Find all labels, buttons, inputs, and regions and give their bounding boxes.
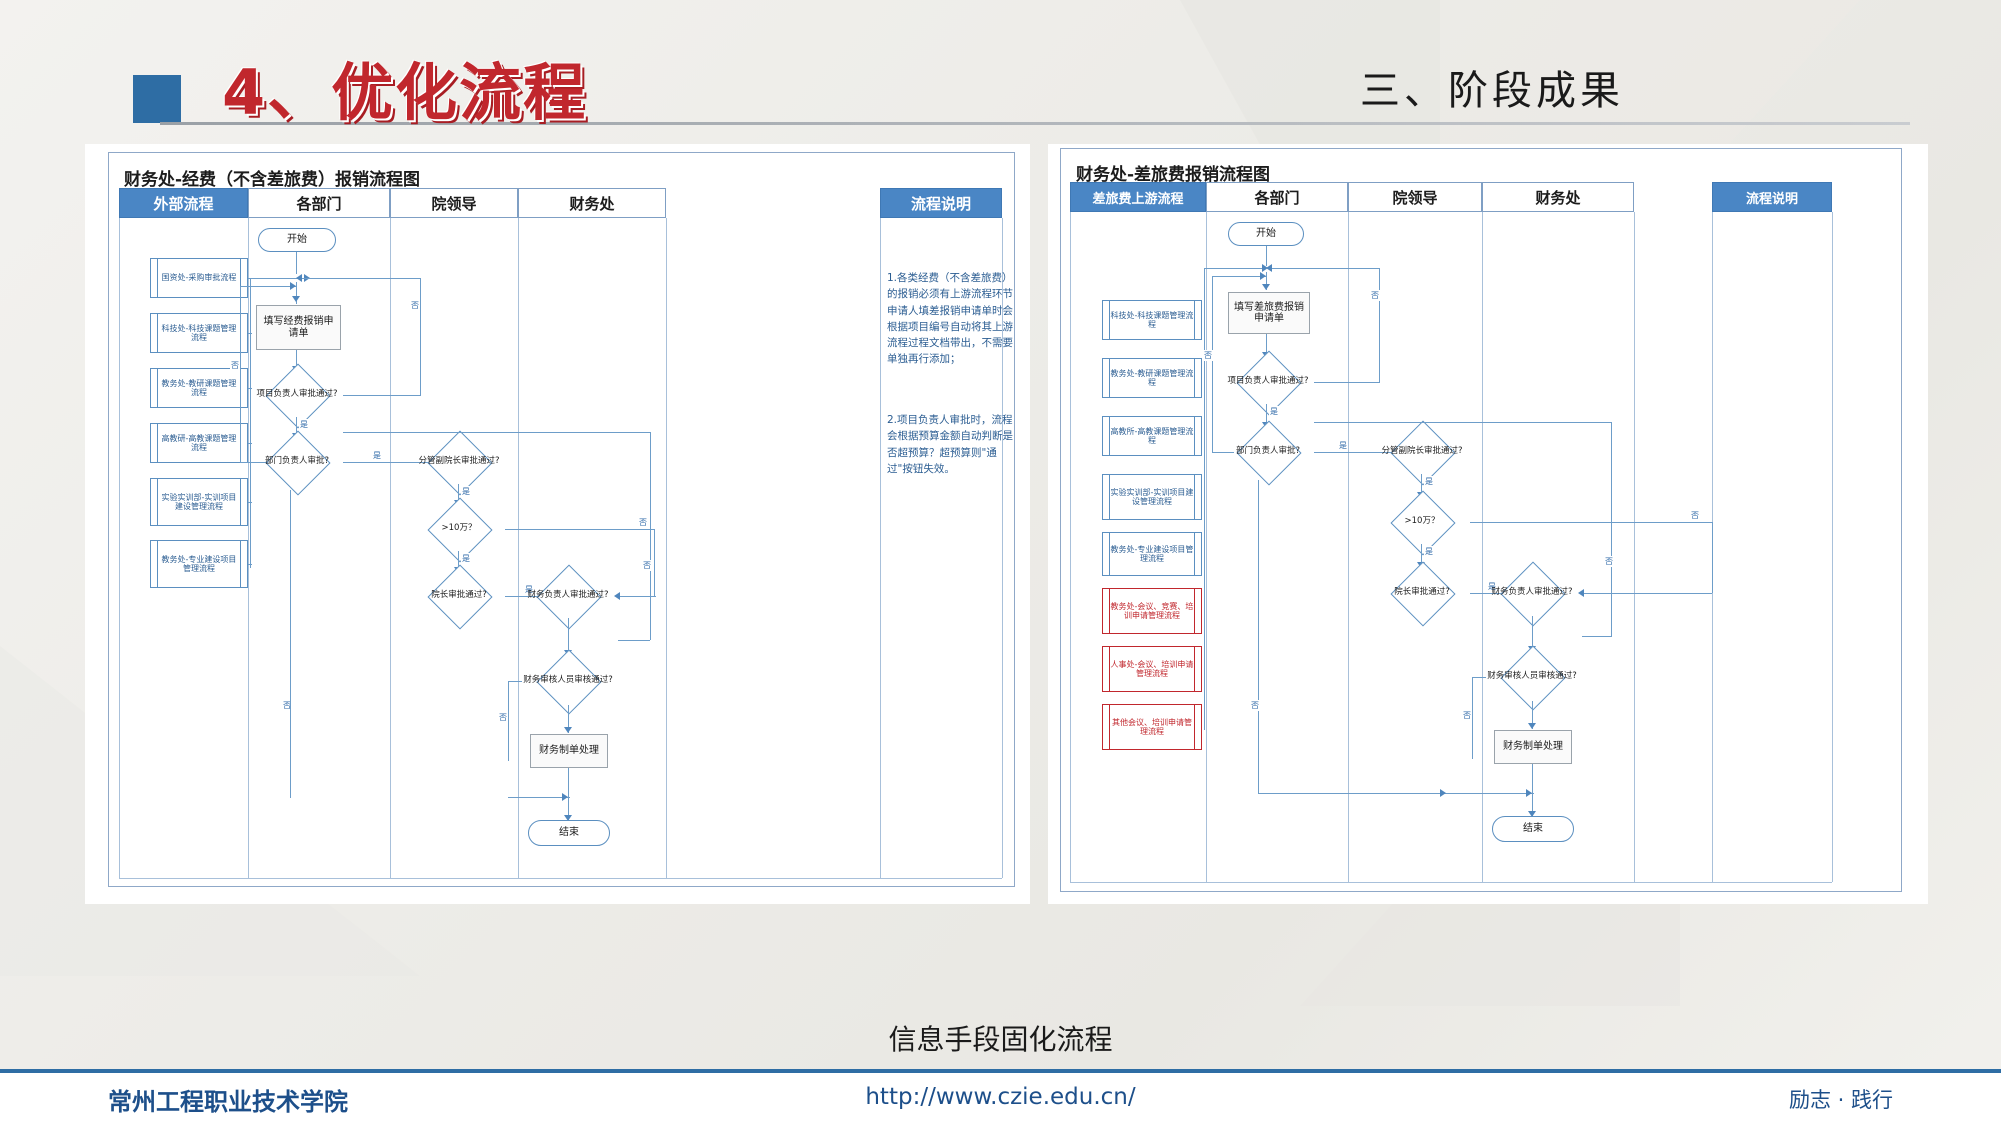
process-note-1: 1.各类经费（不含差旅费）的报销必须有上游流程环节 申请人填差报销申请单时会根据…	[887, 270, 1017, 368]
external-process-box[interactable]: 高教研-高教课题管理流程	[150, 423, 248, 463]
branch-label-no: 否	[1462, 710, 1472, 721]
connector	[1314, 422, 1611, 423]
external-process-box[interactable]: 高教所-高教课题管理流程	[1102, 416, 1202, 456]
node-fill-expense-form[interactable]: 填写经费报销申请单	[256, 305, 341, 350]
lane-bottom-border	[1070, 882, 1832, 883]
arrow-right	[1440, 789, 1446, 797]
lane-divider	[1206, 212, 1207, 882]
connector	[1379, 268, 1380, 382]
arrow-right	[1260, 272, 1266, 280]
lane-header-process-notes: 流程说明	[1712, 182, 1832, 212]
branch-label-no: 否	[410, 300, 420, 311]
lane-header-finance: 财务处	[1482, 182, 1634, 212]
branch-label-yes: 是	[461, 486, 471, 497]
external-process-box[interactable]: 教务处-会议、竞赛、培训申请管理流程	[1102, 588, 1202, 634]
connector	[1212, 276, 1213, 452]
connector	[343, 395, 421, 396]
decision-label: 财务负责人审批通过?	[518, 574, 618, 618]
header-accent-square	[133, 75, 181, 123]
arrow-left	[296, 274, 302, 282]
decision-finance-owner-approval[interactable]: 财务负责人审批通过?	[518, 574, 618, 618]
external-stub	[248, 564, 252, 565]
arrow-down	[1262, 284, 1270, 290]
lane-divider	[1070, 212, 1071, 882]
decision-finance-owner-approval[interactable]: 财务负责人审批通过?	[1482, 570, 1582, 616]
lane-divider	[880, 218, 881, 878]
branch-label-no: 否	[1604, 556, 1614, 567]
connector	[1212, 276, 1266, 277]
branch-label-no: 否	[230, 360, 240, 371]
branch-label-no: 否	[498, 712, 508, 723]
connector	[1611, 422, 1612, 636]
arrow-down	[564, 727, 572, 733]
node-end[interactable]: 结束	[1492, 816, 1574, 842]
external-process-box[interactable]: 教务处-专业建设项目管理流程	[150, 540, 248, 588]
connector	[505, 529, 655, 530]
branch-label-yes: 是	[1424, 476, 1434, 487]
branch-label-no: 否	[1690, 510, 1700, 521]
node-fill-travel-form[interactable]: 填写差旅费报销申请单	[1228, 292, 1310, 334]
decision-president-approval[interactable]: 院长审批通过?	[1374, 570, 1470, 616]
branch-label-yes: 是	[1424, 546, 1434, 557]
node-end[interactable]: 结束	[528, 820, 610, 846]
external-to-main	[1204, 268, 1205, 320]
external-stub	[248, 333, 252, 334]
connector	[1270, 268, 1380, 269]
lane-divider	[666, 218, 667, 878]
connector	[343, 432, 650, 433]
branch-label-yes: 是	[372, 450, 382, 461]
decision-label: 部门负责人审批?	[251, 440, 343, 484]
slide-caption: 信息手段固化流程	[0, 1018, 2001, 1058]
branch-label-no: 否	[638, 517, 648, 528]
decision-dept-owner-approval[interactable]: 部门负责人审批?	[1222, 430, 1314, 474]
connector	[1470, 522, 1712, 523]
external-process-box[interactable]: 科技处-科技课题管理流程	[150, 313, 248, 353]
node-start[interactable]: 开始	[258, 228, 336, 252]
node-finance-voucher[interactable]: 财务制单处理	[1494, 730, 1572, 764]
decision-vice-president-approval[interactable]: 分管副院长审批通过?	[413, 440, 505, 484]
lane-divider	[1832, 212, 1833, 882]
decision-label: 财务审核人员审核通过?	[1482, 653, 1582, 701]
connector	[1712, 522, 1713, 593]
connector	[296, 252, 297, 274]
external-process-box[interactable]: 其他会议、培训申请管理流程	[1102, 704, 1202, 750]
connector	[1582, 636, 1612, 637]
lane-header-departments: 各部门	[1206, 182, 1348, 212]
connector	[568, 768, 569, 798]
decision-dept-owner-approval[interactable]: 部门负责人审批?	[251, 440, 343, 484]
decision-over-100k[interactable]: >10万？	[1374, 500, 1470, 544]
connector	[508, 797, 570, 798]
section-title: 三、阶段成果	[1360, 58, 1624, 116]
footer-url[interactable]: http://www.czie.edu.cn/	[0, 1084, 2001, 1110]
external-process-box[interactable]: 教务处-专业建设项目管理流程	[1102, 532, 1202, 576]
arrow-down	[292, 296, 300, 302]
lane-divider	[1634, 212, 1635, 882]
decision-project-owner-approval[interactable]: 项目负责人审批通过?	[251, 373, 343, 417]
decision-over-100k[interactable]: >10万？	[413, 507, 505, 551]
branch-label-yes: 是	[1269, 406, 1279, 417]
connector	[508, 681, 509, 761]
connector	[240, 286, 296, 287]
connector	[1582, 593, 1712, 594]
connector	[1472, 793, 1534, 794]
arrow-right	[290, 282, 296, 290]
external-rail	[1204, 320, 1205, 730]
lane-divider	[1348, 212, 1349, 882]
decision-label: >10万？	[1374, 500, 1470, 544]
connector	[1266, 246, 1267, 266]
decision-finance-auditor-approval[interactable]: 财务审核人员审核通过?	[1482, 653, 1582, 701]
external-process-box[interactable]: 实验实训部-实训项目建设管理流程	[1102, 474, 1202, 520]
page-title: 4、优化流程	[222, 42, 587, 132]
decision-label: 分管副院长审批通过?	[1374, 430, 1470, 474]
external-rail	[250, 278, 251, 568]
lane-header-leadership: 院领导	[390, 188, 518, 218]
external-process-box[interactable]: 科技处-科技课题管理流程	[1102, 300, 1202, 340]
lane-divider	[390, 218, 391, 878]
left-chart-title: 财务处-经费（不含差旅费）报销流程图	[124, 165, 420, 190]
external-process-box[interactable]: 人事处-会议、培训申请管理流程	[1102, 646, 1202, 692]
decision-vice-president-approval[interactable]: 分管副院长审批通过?	[1374, 430, 1470, 474]
decision-finance-auditor-approval[interactable]: 财务审核人员审核通过?	[518, 657, 618, 705]
lane-divider	[1482, 212, 1483, 882]
lane-divider	[518, 218, 519, 878]
connector	[618, 640, 650, 641]
connector	[290, 490, 291, 780]
external-stub	[248, 502, 252, 503]
process-note-2: 2.项目负责人审批时，流程会根据预算金额自动判断是否超预算？超预算则"通过"按钮…	[887, 412, 1017, 477]
connector	[1258, 480, 1259, 770]
lane-divider	[119, 218, 120, 878]
connector	[654, 529, 655, 596]
lane-header-travel-upstream: 差旅费上游流程	[1070, 182, 1206, 212]
decision-label: 分管副院长审批通过?	[413, 440, 505, 484]
arrow-left	[1266, 264, 1272, 272]
connector	[300, 278, 420, 279]
connector	[1314, 382, 1380, 383]
branch-label-no: 否	[642, 560, 652, 571]
branch-label-no: 否	[1370, 290, 1380, 301]
lane-header-process-notes: 流程说明	[880, 188, 1002, 218]
branch-label-yes: 是	[299, 419, 309, 430]
connector	[1472, 677, 1473, 759]
connector	[1532, 764, 1533, 794]
decision-project-owner-approval[interactable]: 项目负责人审批通过?	[1222, 360, 1314, 404]
branch-label-yes: 是	[461, 553, 471, 564]
decision-label: 项目负责人审批通过?	[1222, 360, 1314, 404]
decision-label: 财务审核人员审核通过?	[518, 657, 618, 705]
lane-bottom-border	[119, 878, 1002, 879]
lane-header-external-process: 外部流程	[119, 188, 248, 218]
decision-label: >10万？	[413, 507, 505, 551]
lane-header-finance: 财务处	[518, 188, 666, 218]
branch-label-yes: 是	[1338, 440, 1348, 451]
decision-label: 财务负责人审批通过?	[1482, 570, 1582, 616]
decision-label: 院长审批通过?	[1374, 570, 1470, 616]
external-process-box[interactable]: 国资处-采购审批流程	[150, 258, 248, 298]
connector	[240, 286, 241, 462]
arrow-down	[1528, 723, 1536, 729]
connector	[1258, 770, 1259, 794]
decision-label: 项目负责人审批通过?	[251, 373, 343, 417]
lane-header-leadership: 院领导	[1348, 182, 1482, 212]
external-process-box[interactable]: 教务处-教研课题管理流程	[1102, 358, 1202, 398]
node-finance-voucher[interactable]: 财务制单处理	[530, 734, 608, 768]
branch-label-no: 否	[1203, 350, 1213, 361]
node-start[interactable]: 开始	[1228, 222, 1304, 246]
external-to-main	[1204, 268, 1266, 269]
decision-label: 院长审批通过?	[413, 574, 505, 618]
decision-president-approval[interactable]: 院长审批通过?	[413, 574, 505, 618]
branch-label-no: 否	[1250, 700, 1260, 711]
decision-label: 部门负责人审批?	[1222, 430, 1314, 474]
lane-header-departments: 各部门	[248, 188, 390, 218]
footer-motto: 励志 · 践行	[1789, 1084, 1893, 1114]
connector	[650, 432, 651, 640]
connector	[420, 278, 421, 396]
right-flowchart-frame	[1060, 148, 1902, 892]
external-process-box[interactable]: 教务处-教研课题管理流程	[150, 368, 248, 408]
external-process-box[interactable]: 实验实训部-实训项目建设管理流程	[150, 478, 248, 526]
